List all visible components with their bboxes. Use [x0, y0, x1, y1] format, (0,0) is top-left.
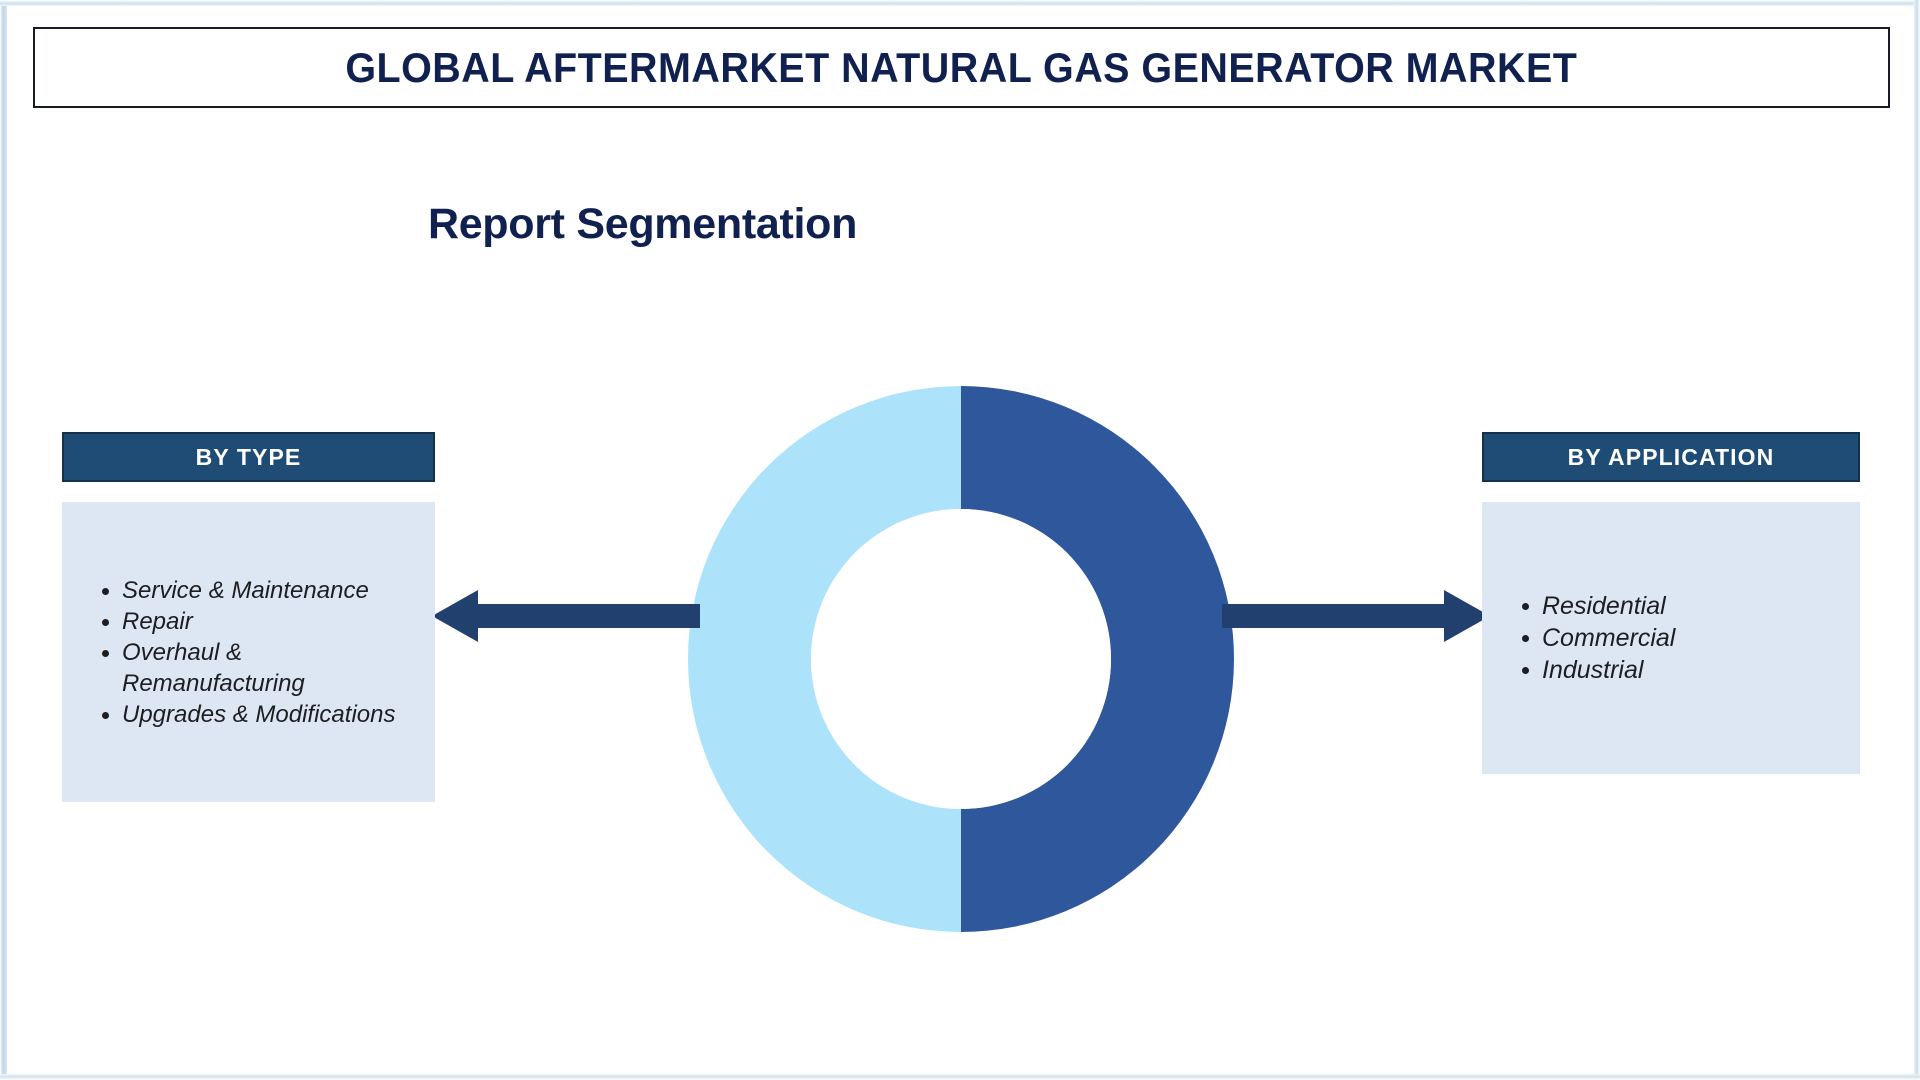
arrow-left-icon	[432, 585, 700, 647]
list-item: Repair	[102, 606, 421, 637]
segment-panel-by-type: BY TYPE Service & Maintenance Repair Ove…	[62, 432, 435, 802]
segmentation-donut-chart	[688, 386, 1234, 932]
list-item: Upgrades & Modifications	[102, 699, 421, 730]
by-type-body: Service & Maintenance Repair Overhaul & …	[62, 502, 435, 802]
by-application-list: Residential Commercial Industrial	[1482, 590, 1860, 686]
page-edge-right-rule	[1914, 0, 1920, 1080]
page-edge-left-rule	[0, 0, 7, 1080]
list-item: Overhaul & Remanufacturing	[102, 637, 421, 699]
list-item: Service & Maintenance	[102, 575, 421, 606]
page-edge-top-rule	[0, 0, 1920, 6]
donut-hole	[811, 509, 1111, 809]
page-edge-bottom-rule	[0, 1074, 1920, 1080]
list-item: Industrial	[1522, 654, 1846, 686]
infographic-page: GLOBAL AFTERMARKET NATURAL GAS GENERATOR…	[0, 0, 1920, 1080]
title-banner: GLOBAL AFTERMARKET NATURAL GAS GENERATOR…	[33, 27, 1890, 108]
by-application-header: BY APPLICATION	[1482, 432, 1860, 482]
section-subtitle: Report Segmentation	[0, 200, 1285, 249]
by-type-list: Service & Maintenance Repair Overhaul & …	[62, 575, 435, 730]
segment-panel-by-application: BY APPLICATION Residential Commercial In…	[1482, 432, 1860, 774]
page-title: GLOBAL AFTERMARKET NATURAL GAS GENERATOR…	[345, 44, 1577, 92]
by-type-header: BY TYPE	[62, 432, 435, 482]
list-item: Residential	[1522, 590, 1846, 622]
list-item: Commercial	[1522, 622, 1846, 654]
arrow-right-icon	[1222, 585, 1490, 647]
by-application-body: Residential Commercial Industrial	[1482, 502, 1860, 774]
